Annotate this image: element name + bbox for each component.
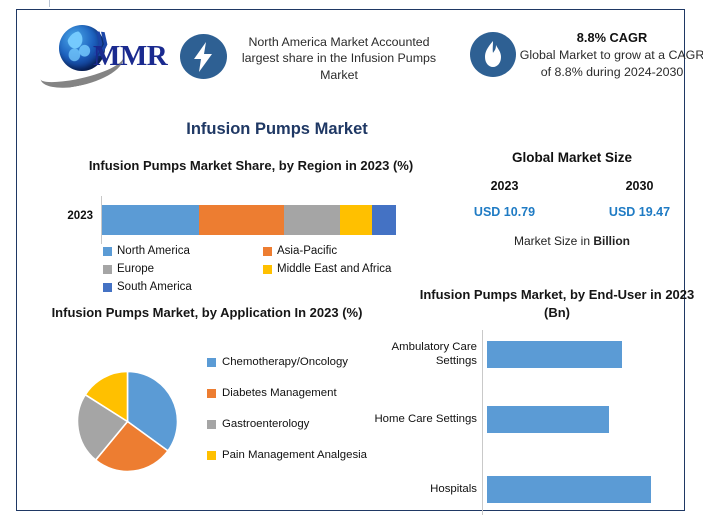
gms-year-2023: 2023 <box>437 179 572 193</box>
region-segment <box>102 205 199 235</box>
region-legend-item: Asia-Pacific <box>263 242 423 260</box>
legend-label: Asia-Pacific <box>277 245 337 257</box>
region-axis-label: 2023 <box>45 210 93 222</box>
end-user-bar <box>487 341 622 368</box>
gms-footnote-unit: Billion <box>593 234 630 248</box>
legend-label: Middle East and Africa <box>277 263 391 275</box>
cagr-callout: 8.8% CAGR Global Market to grow at a CAG… <box>519 30 703 80</box>
gms-footnote-prefix: Market Size in <box>514 234 593 248</box>
legend-label: Pain Management Analgesia <box>222 448 367 463</box>
region-segment <box>340 205 372 235</box>
legend-swatch <box>103 265 112 274</box>
end-user-category-label: Hospitals <box>367 482 482 496</box>
end-user-row: Hospitals <box>367 470 697 508</box>
gms-year-2030: 2030 <box>572 179 703 193</box>
end-user-bar <box>487 406 609 433</box>
region-legend-item: North America <box>103 242 263 260</box>
cagr-headline: 8.8% CAGR <box>519 30 703 46</box>
region-legend-item: Europe <box>103 260 263 278</box>
legend-label: Europe <box>117 263 154 275</box>
legend-label: South America <box>117 281 192 293</box>
region-legend-item: South America <box>103 278 263 296</box>
application-chart-title: Infusion Pumps Market, by Application In… <box>47 304 367 322</box>
end-user-bar <box>487 476 651 503</box>
page-title: Infusion Pumps Market <box>77 120 477 139</box>
legend-swatch <box>207 451 216 460</box>
region-legend: North AmericaAsia-PacificEuropeMiddle Ea… <box>103 242 423 296</box>
gms-value-2030: USD 19.47 <box>572 205 703 219</box>
north-america-callout: North America Market Accounted largest s… <box>240 34 438 83</box>
global-market-size-panel: Global Market Size 2023 2030 USD 10.79 U… <box>437 150 703 248</box>
region-segment <box>199 205 284 235</box>
application-pie-chart <box>75 369 180 474</box>
legend-swatch <box>207 358 216 367</box>
legend-swatch <box>207 389 216 398</box>
legend-label: Chemotherapy/Oncology <box>222 355 348 370</box>
legend-label: Gastroenterology <box>222 417 309 432</box>
infographic-frame: ⟫ MMR North America Market Accounted lar… <box>16 9 685 511</box>
legend-swatch <box>263 247 272 256</box>
cagr-detail: Global Market to grow at a CAGR of 8.8% … <box>520 48 703 78</box>
region-legend-item: Middle East and Africa <box>263 260 423 278</box>
application-legend-item: Diabetes Management <box>207 386 372 401</box>
application-legend-item: Gastroenterology <box>207 417 372 432</box>
legend-swatch <box>103 283 112 292</box>
region-segment <box>284 205 340 235</box>
application-legend-item: Chemotherapy/Oncology <box>207 355 372 370</box>
application-legend-item: Pain Management Analgesia <box>207 448 372 463</box>
legend-label: Diabetes Management <box>222 386 337 401</box>
gms-value-2023: USD 10.79 <box>437 205 572 219</box>
mmr-logo: ⟫ MMR <box>37 22 163 82</box>
end-user-row: Ambulatory Care Settings <box>367 335 697 373</box>
region-share-chart: 2023 <box>45 196 405 244</box>
end-user-row: Home Care Settings <box>367 400 697 438</box>
text-cursor-mark <box>49 0 50 7</box>
region-chart-title: Infusion Pumps Market Share, by Region i… <box>77 157 425 175</box>
global-market-size-heading: Global Market Size <box>437 150 703 165</box>
legend-swatch <box>263 265 272 274</box>
end-user-bar-chart: Ambulatory Care SettingsHome Care Settin… <box>367 330 697 520</box>
gms-footnote: Market Size in Billion <box>437 234 703 248</box>
logo-text: MMR <box>93 40 167 73</box>
region-segment <box>372 205 396 235</box>
flame-icon <box>470 32 516 77</box>
lightning-bolt-icon <box>180 34 227 79</box>
end-user-category-label: Home Care Settings <box>367 412 482 426</box>
legend-swatch <box>103 247 112 256</box>
end-user-category-label: Ambulatory Care Settings <box>367 340 482 368</box>
application-legend: Chemotherapy/OncologyDiabetes Management… <box>207 355 372 479</box>
end-user-chart-title: Infusion Pumps Market, by End-User in 20… <box>412 286 702 322</box>
region-stacked-bar <box>102 205 396 235</box>
legend-swatch <box>207 420 216 429</box>
legend-label: North America <box>117 245 190 257</box>
